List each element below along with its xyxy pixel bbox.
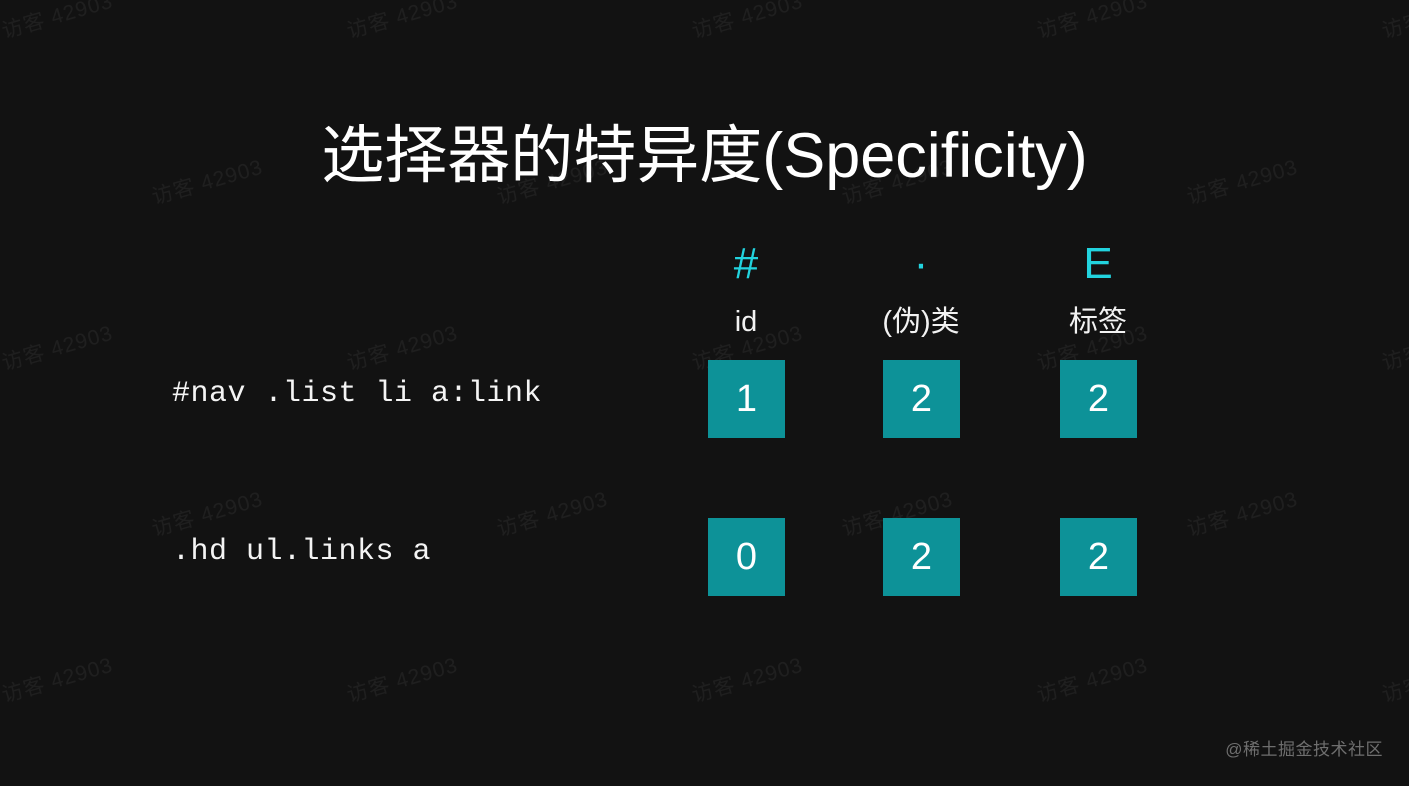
score-box-element: 2 bbox=[1060, 518, 1137, 596]
column-label-element: 标签 bbox=[1018, 302, 1178, 342]
score-box-id: 0 bbox=[708, 518, 785, 596]
slide-canvas: 选择器的特异度(Specificity) # · E id (伪)类 标签 #n… bbox=[0, 0, 1409, 786]
column-symbol-element: E bbox=[1018, 236, 1178, 292]
column-symbol-id: # bbox=[666, 236, 826, 292]
column-label-id: id bbox=[666, 302, 826, 342]
specificity-table: # · E id (伪)类 标签 #nav .list li a:link 1 … bbox=[0, 236, 1409, 676]
table-header-symbol-row: # · E bbox=[0, 236, 1409, 302]
selector-expression: #nav .list li a:link bbox=[172, 374, 542, 414]
page-title: 选择器的特异度(Specificity) bbox=[0, 120, 1409, 192]
column-label-class: (伪)类 bbox=[841, 302, 1001, 342]
selector-expression: .hd ul.links a bbox=[172, 532, 431, 572]
table-row: #nav .list li a:link 1 2 2 bbox=[0, 360, 1409, 518]
score-box-element: 2 bbox=[1060, 360, 1137, 438]
column-symbol-class: · bbox=[841, 236, 1001, 292]
table-row: .hd ul.links a 0 2 2 bbox=[0, 518, 1409, 676]
score-box-class: 2 bbox=[883, 360, 960, 438]
table-header-label-row: id (伪)类 标签 bbox=[0, 302, 1409, 360]
score-box-class: 2 bbox=[883, 518, 960, 596]
footer-credit: @稀土掘金技术社区 bbox=[1225, 735, 1383, 760]
score-box-id: 1 bbox=[708, 360, 785, 438]
